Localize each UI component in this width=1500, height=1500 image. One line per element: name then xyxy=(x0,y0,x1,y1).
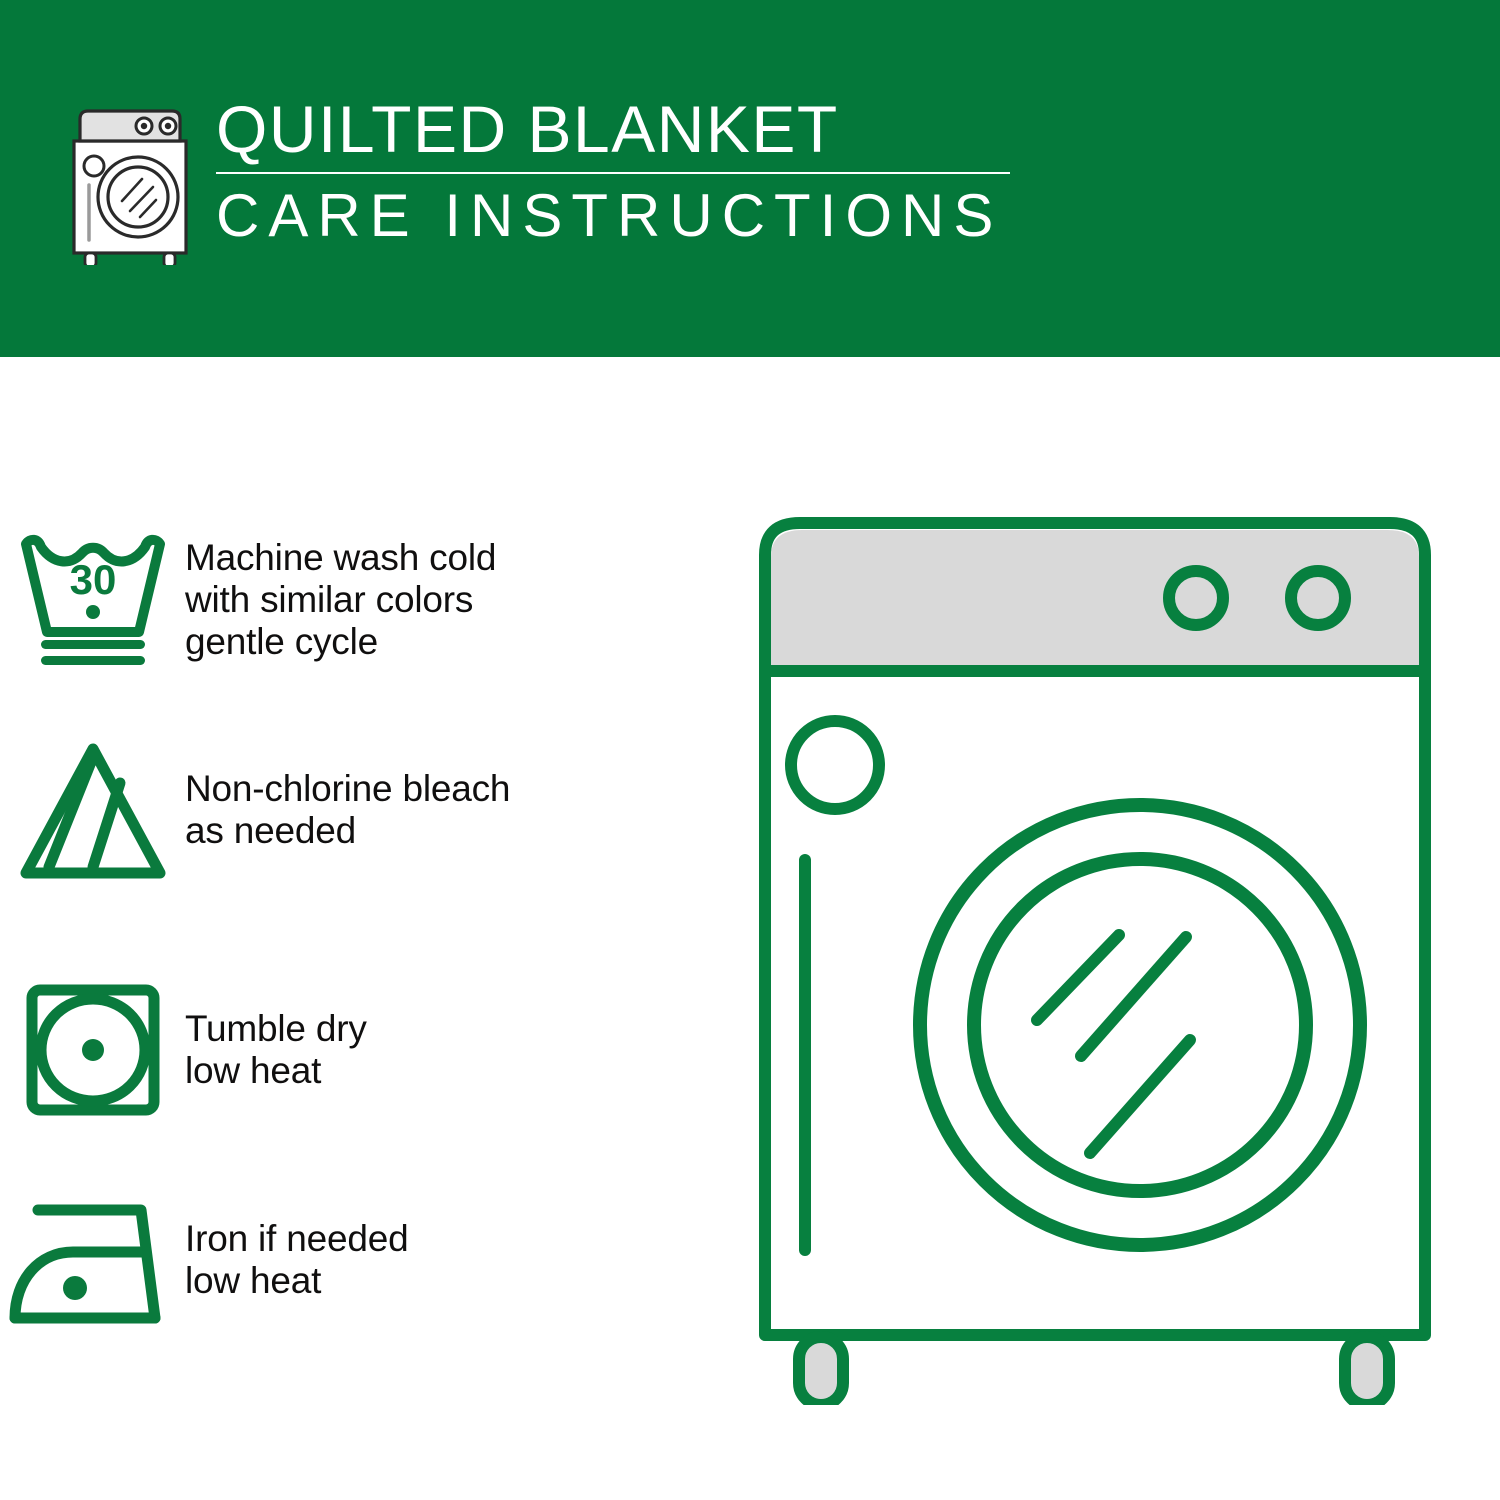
care-instruction-list: 30 Machine wash cold with similar colors… xyxy=(0,0,740,1500)
care-row-label: Machine wash cold with similar colors ge… xyxy=(185,537,496,663)
care-row-label: Non-chlorine bleach as needed xyxy=(185,768,510,852)
machine-leg xyxy=(799,1337,843,1405)
care-row-label: Tumble dry low heat xyxy=(185,1008,367,1092)
care-instructions-infographic: QUILTED BLANKET CARE INSTRUCTIONS 30 xyxy=(0,0,1500,1500)
machine-leg xyxy=(1345,1337,1389,1405)
non-chlorine-bleach-triangle-icon xyxy=(0,735,185,885)
iron-low-heat-icon xyxy=(0,1190,185,1330)
wash-tub-30-icon: 30 xyxy=(0,528,185,673)
wash-temperature-label: 30 xyxy=(69,556,116,603)
care-row: Tumble dry low heat xyxy=(0,980,700,1120)
tumble-dry-low-icon xyxy=(0,980,185,1120)
machine-control-panel xyxy=(771,530,1419,671)
front-load-washing-machine-illustration xyxy=(745,505,1445,1405)
care-row: Iron if needed low heat xyxy=(0,1190,700,1330)
care-row-label: Iron if needed low heat xyxy=(185,1218,408,1302)
care-row: Non-chlorine bleach as needed xyxy=(0,735,700,885)
care-row: 30 Machine wash cold with similar colors… xyxy=(0,525,700,675)
